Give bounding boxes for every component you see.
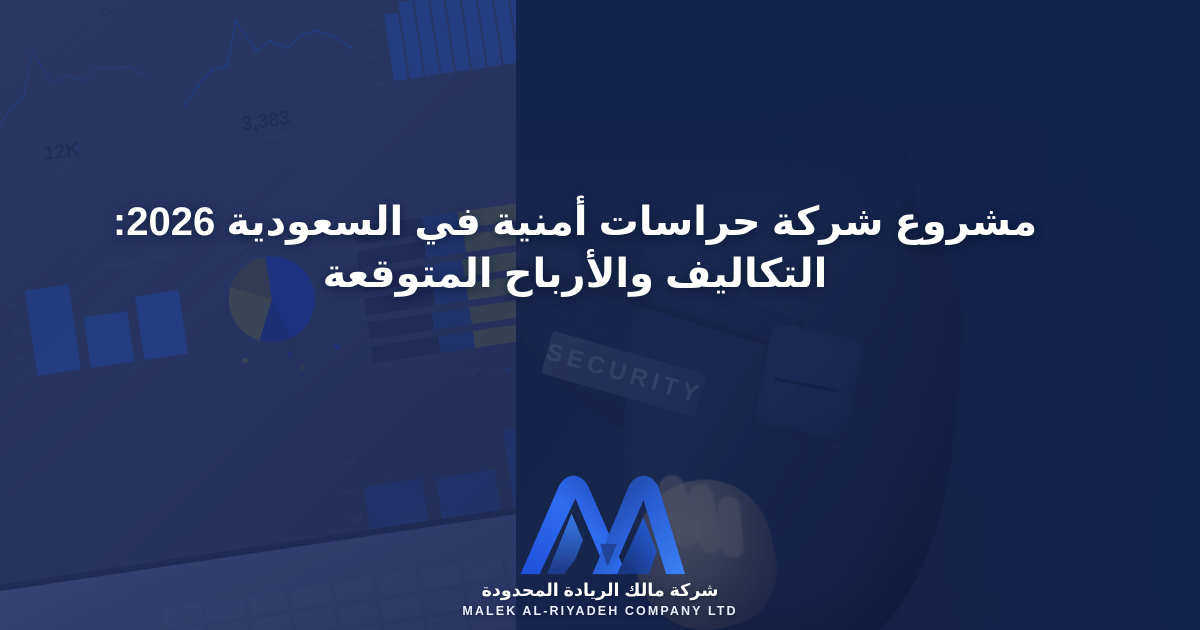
headline: مشروع شركة حراسات أمنية في السعودية 2026… [70,196,1080,300]
logo-m-monogram-icon [505,472,695,576]
logo-arabic-name: شركة مالك الريادة المحدودة [482,580,719,601]
headline-line-1: مشروع شركة حراسات أمنية في السعودية 2026… [70,196,1080,248]
logo-english-name: MALEK AL-RIYADEH COMPANY LTD [462,604,737,618]
company-logo: شركة مالك الريادة المحدودة MALEK AL-RIYA… [0,472,1200,618]
promo-banner: Profit $60k $40k $20k $0k Jan 2022Feb 20… [0,0,1200,630]
headline-line-2: التكاليف والأرباح المتوقعة [70,248,1080,300]
